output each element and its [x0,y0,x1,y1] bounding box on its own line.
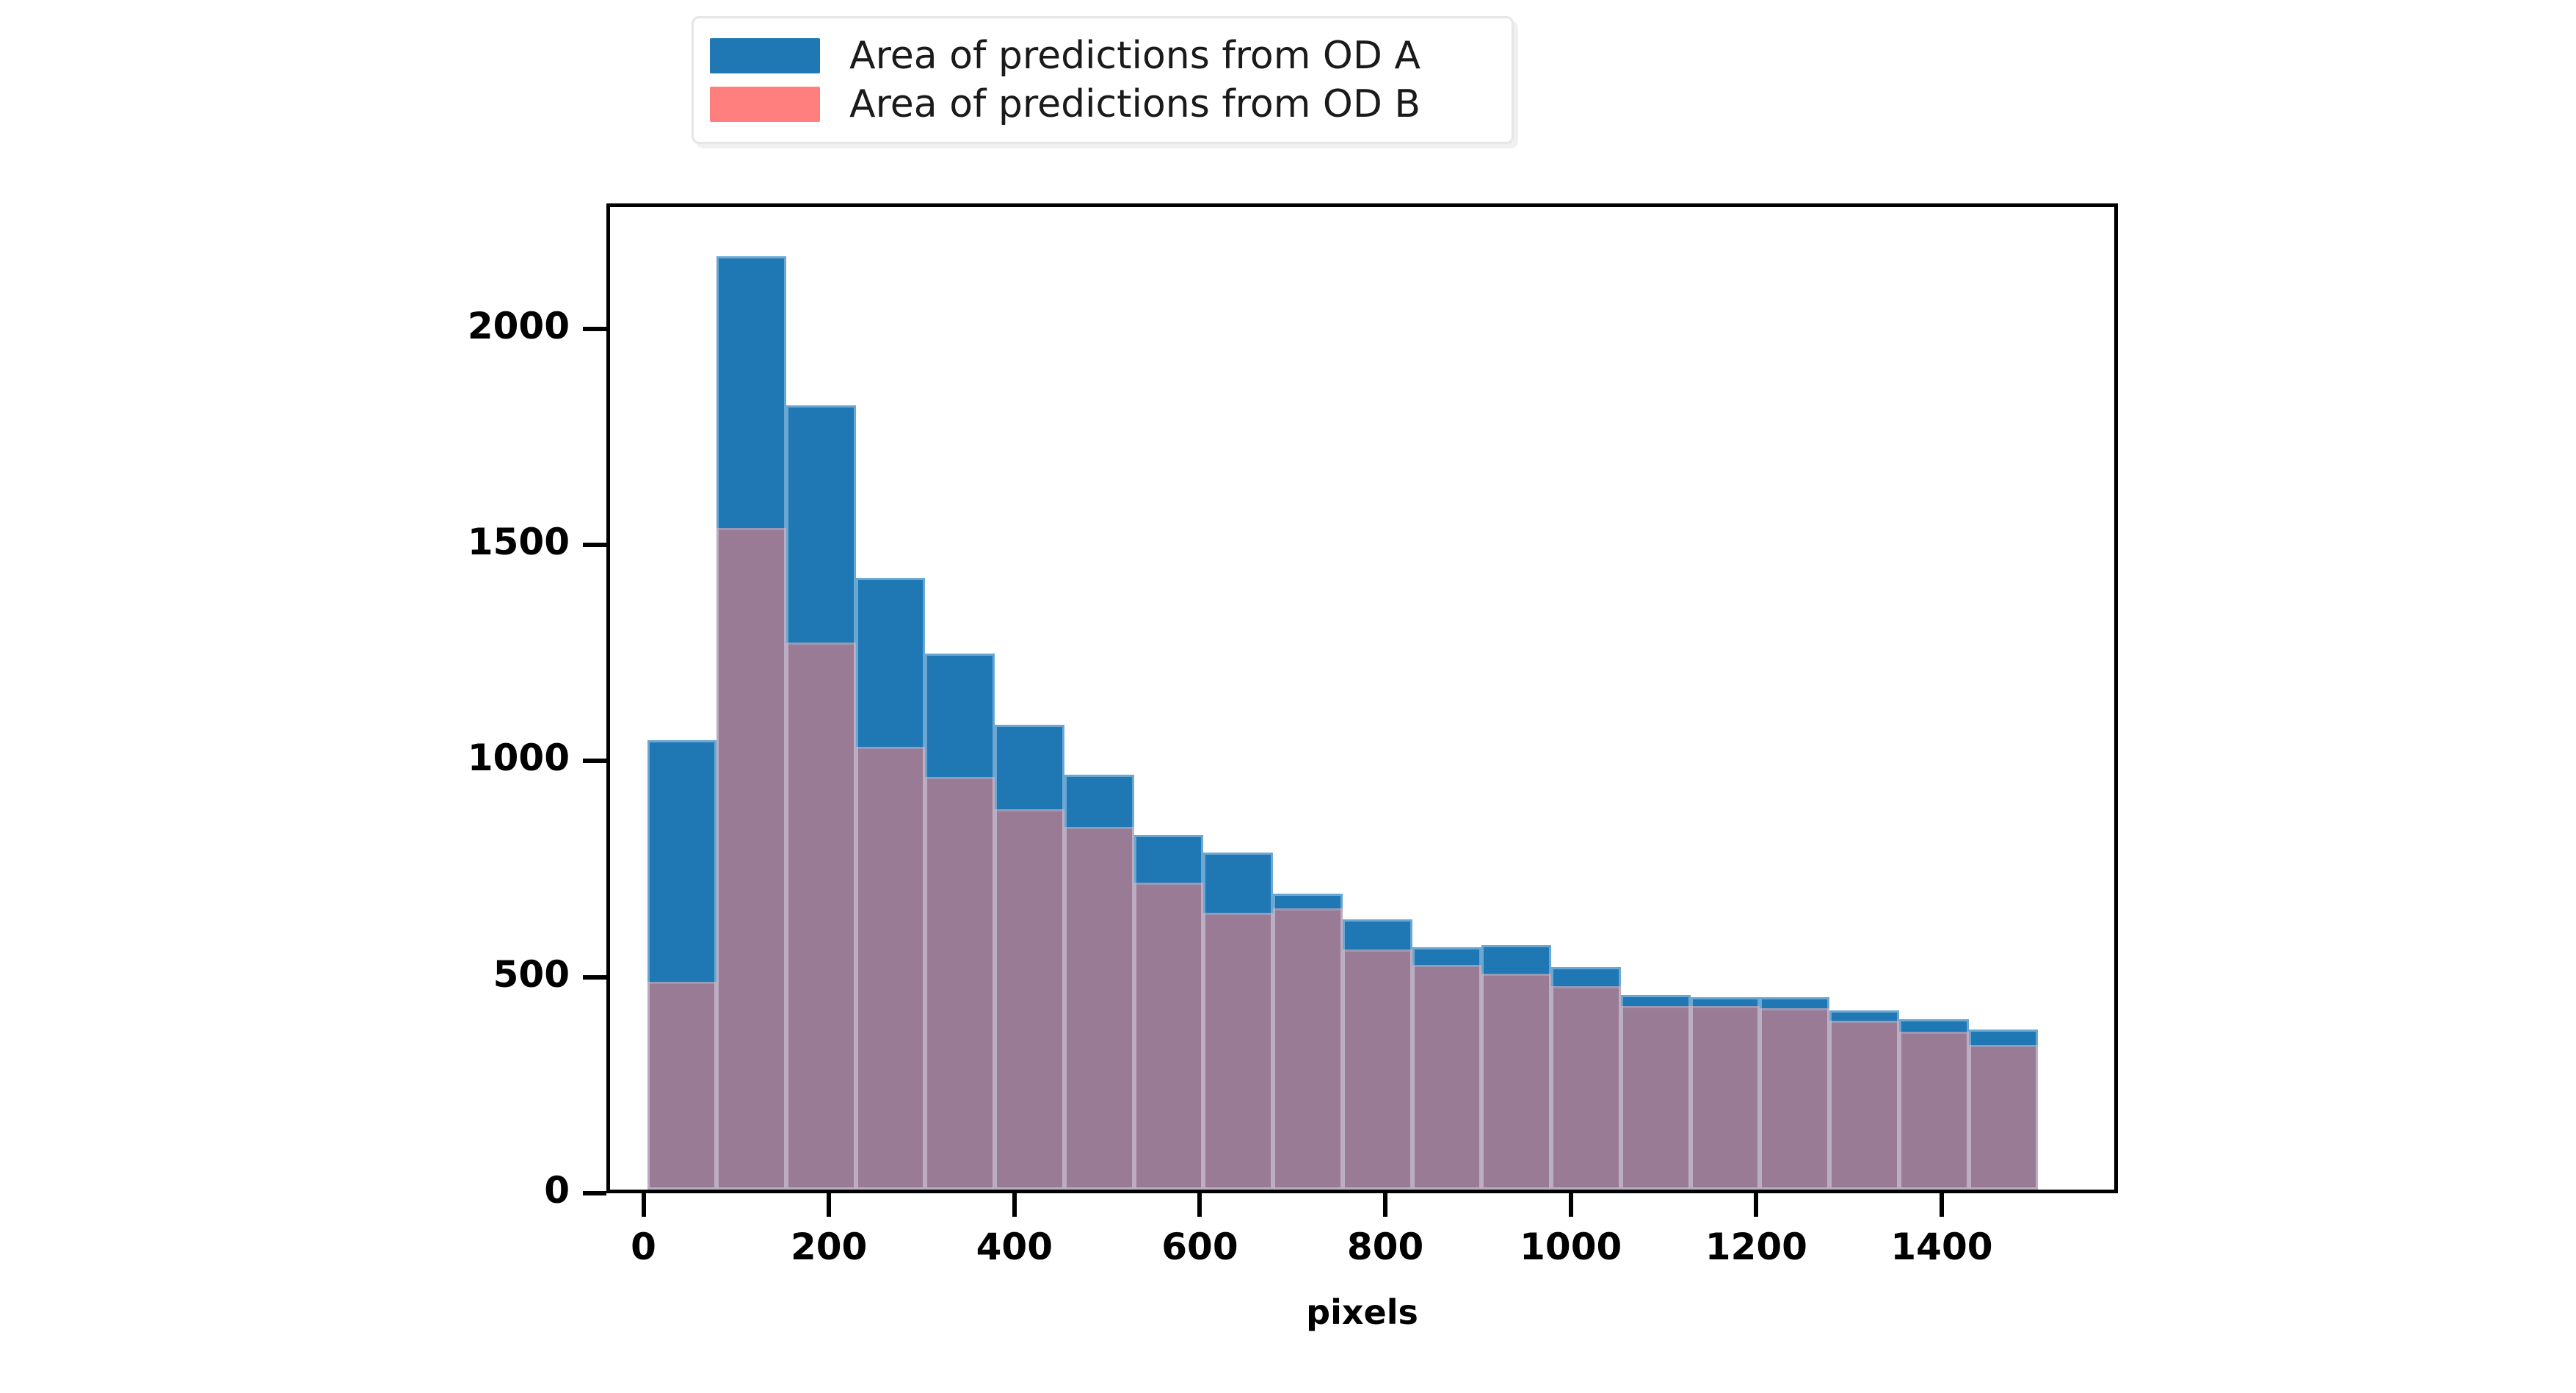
legend-label-od-a: Area of predictions from OD A [849,34,1421,78]
bar-series-b-19 [1969,1045,2039,1190]
legend-swatch-od-b [710,87,820,122]
bar-series-b-11 [1412,965,1482,1190]
chart-legend: Area of predictions from OD A Area of pr… [692,16,1514,144]
y-tick-label-500: 500 [254,953,570,996]
plot-axes [606,203,2118,1193]
x-tick-mark-600 [1197,1193,1202,1217]
bar-series-b-13 [1551,986,1621,1190]
legend-item-od-b[interactable]: Area of predictions from OD B [710,80,1492,129]
bar-series-b-1 [716,528,786,1190]
bar-series-b-3 [856,747,926,1190]
x-axis-label: pixels [606,1292,2118,1332]
x-tick-label-1400: 1400 [1832,1226,2052,1268]
legend-label-od-b: Area of predictions from OD B [849,82,1421,126]
x-tick-mark-800 [1383,1193,1387,1217]
bar-series-b-10 [1343,949,1412,1190]
x-tick-mark-200 [827,1193,831,1217]
y-tick-mark-1500 [583,543,606,547]
bar-series-b-8 [1203,913,1273,1190]
bar-series-b-14 [1621,1006,1691,1190]
bar-series-b-17 [1829,1021,1899,1190]
y-tick-mark-0 [583,1191,606,1195]
y-tick-label-0: 0 [254,1169,570,1212]
x-tick-mark-1200 [1754,1193,1758,1217]
x-tick-mark-0 [642,1193,646,1217]
legend-item-od-a[interactable]: Area of predictions from OD A [710,32,1492,80]
bar-series-b-15 [1691,1006,1760,1190]
x-tick-mark-1000 [1569,1193,1573,1217]
y-tick-label-2000: 2000 [254,305,570,347]
y-tick-mark-2000 [583,327,606,331]
bar-series-b-6 [1064,827,1134,1190]
legend-swatch-od-a [710,38,820,73]
bar-series-b-4 [925,777,995,1190]
bar-series-b-7 [1134,883,1204,1190]
bar-series-b-2 [786,643,856,1190]
bar-series-b-0 [647,982,717,1190]
bar-series-b-12 [1481,974,1551,1190]
bar-series-b-5 [995,809,1064,1190]
y-tick-label-1000: 1000 [254,737,570,779]
bar-series-b-16 [1760,1008,1829,1190]
x-tick-mark-400 [1012,1193,1017,1217]
y-tick-mark-500 [583,975,606,980]
plot-area [610,207,2114,1190]
x-tick-mark-1400 [1940,1193,1944,1217]
bar-series-b-18 [1899,1032,1969,1190]
y-tick-mark-1000 [583,759,606,763]
figure-canvas: In the predictions 050010001500200002004… [0,0,2576,1393]
y-tick-label-1500: 1500 [254,521,570,563]
bar-series-b-9 [1273,908,1343,1190]
